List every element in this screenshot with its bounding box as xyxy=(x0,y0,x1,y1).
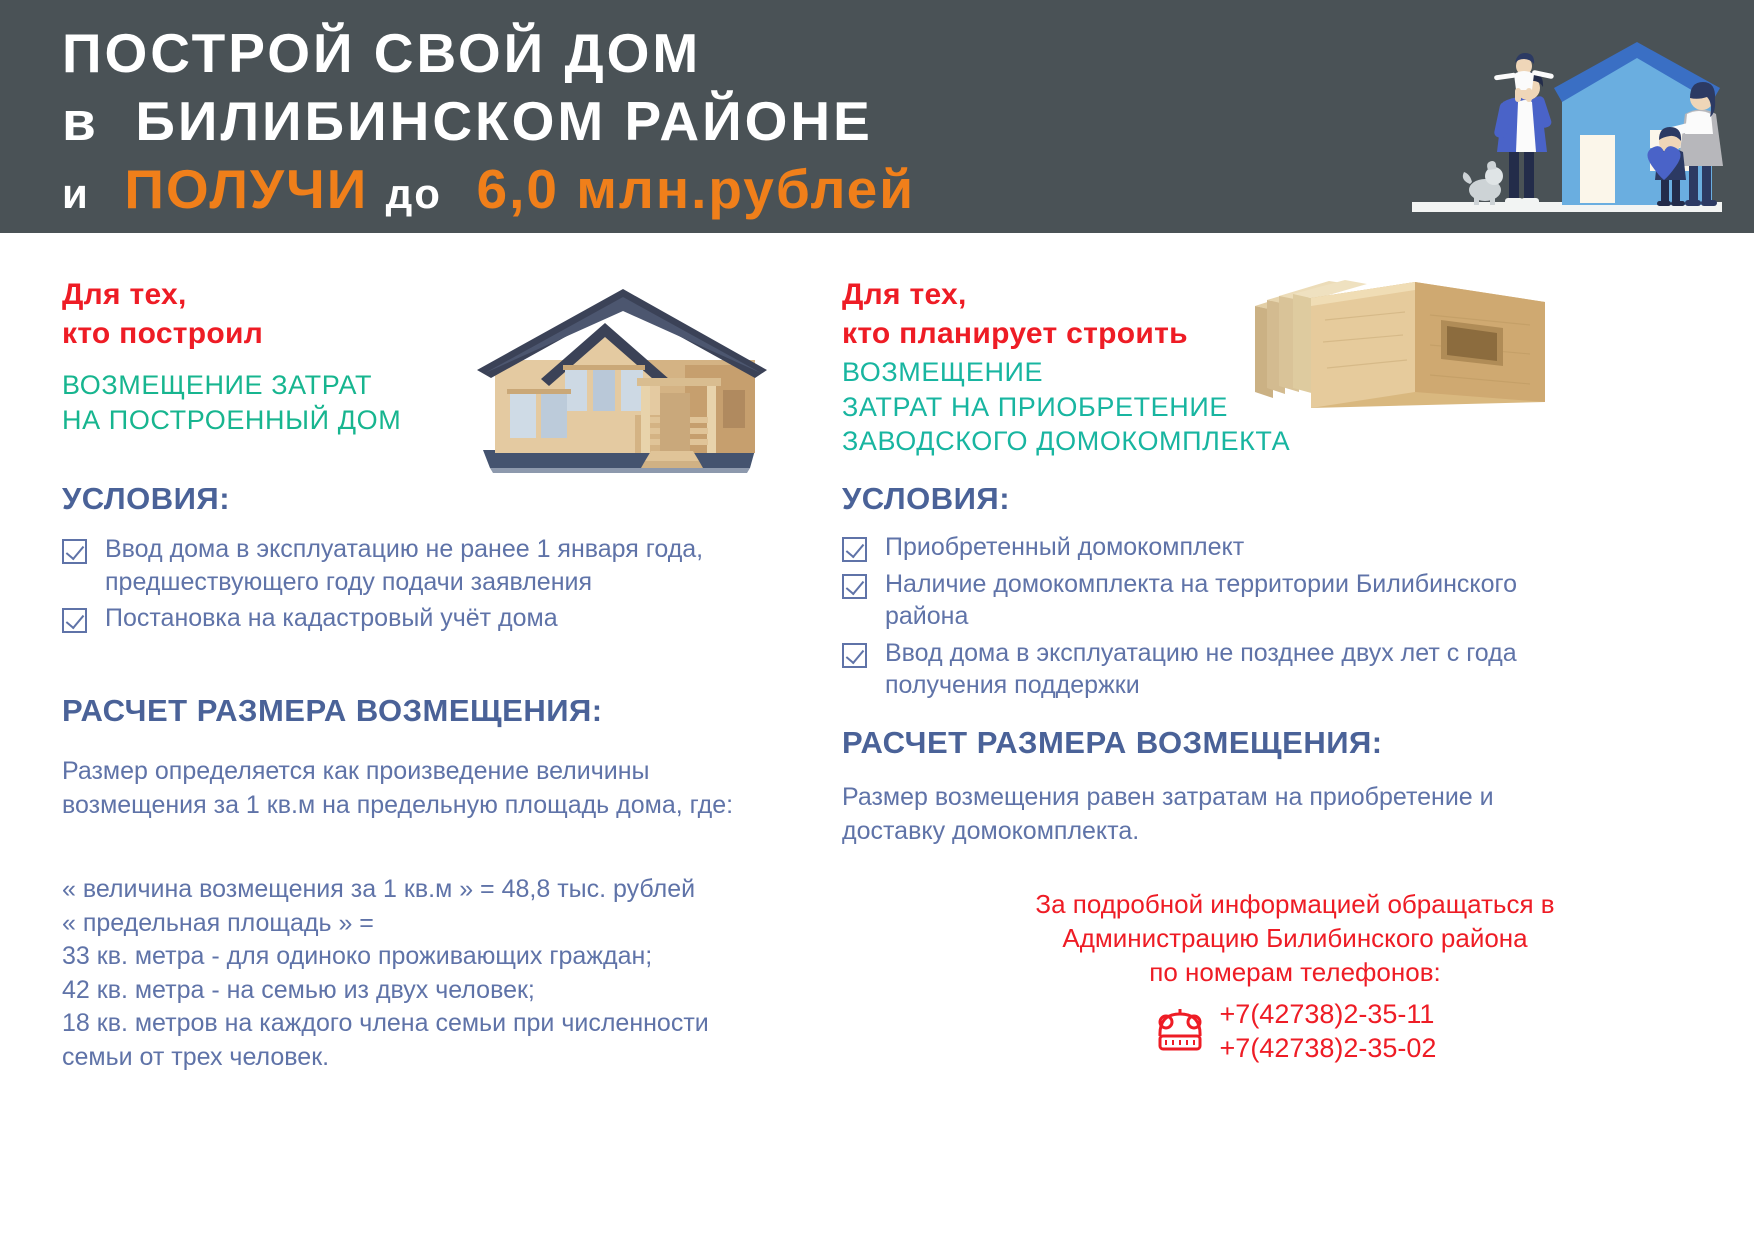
list-item: Ввод дома в эксплуатацию не позднее двух… xyxy=(842,637,1522,702)
list-item: Ввод дома в эксплуатацию не ранее 1 янва… xyxy=(62,533,752,598)
right-calc-heading: РАСЧЕТ РАЗМЕРА ВОЗМЕЩЕНИЯ: xyxy=(842,725,1383,761)
left-subtitle-line-2: НА ПОСТРОЕННЫЙ ДОМ xyxy=(62,403,401,438)
headline-do: до xyxy=(386,170,442,217)
right-kicker-line-1: Для тех, xyxy=(842,275,1188,314)
left-calc-heading: РАСЧЕТ РАЗМЕРА ВОЗМЕЩЕНИЯ: xyxy=(62,693,603,729)
left-subtitle: ВОЗМЕЩЕНИЕ ЗАТРАТ НА ПОСТРОЕННЫЙ ДОМ xyxy=(62,368,401,437)
formula-line: « предельная площадь » = xyxy=(62,907,822,941)
headline-conj: и xyxy=(62,170,90,217)
contact-block: За подробной информацией обращаться в Ад… xyxy=(890,888,1700,1065)
dog-figure xyxy=(1463,161,1503,205)
headline-poluchi: ПОЛУЧИ xyxy=(124,158,368,220)
headline-units: млн.рублей xyxy=(576,158,915,220)
wooden-house-svg xyxy=(455,265,780,485)
condition-text: Ввод дома в эксплуатацию не позднее двух… xyxy=(885,637,1522,702)
contact-line-1: За подробной информацией обращаться в xyxy=(890,888,1700,922)
right-conditions-list: Приобретенный домокомплект Наличие домок… xyxy=(842,531,1522,706)
contact-line-3: по номерам телефонов: xyxy=(890,956,1700,990)
headline-line-1: ПОСТРОЙ СВОЙ ДОМ xyxy=(62,26,1212,81)
sip-panels-svg xyxy=(1245,280,1545,420)
formula-line: 18 кв. метров на каждого члена семьи при… xyxy=(62,1007,822,1041)
left-kicker: Для тех, кто построил xyxy=(62,275,263,353)
condition-text: Постановка на кадастровый учёт дома xyxy=(105,602,558,635)
right-kicker: Для тех, кто планирует строить xyxy=(842,275,1188,353)
formula-line: 33 кв. метра - для одиноко проживающих г… xyxy=(62,940,822,974)
right-subtitle-line-2: ЗАТРАТ НА ПРИОБРЕТЕНИЕ xyxy=(842,390,1290,425)
condition-text: Наличие домокомплекта на территории Били… xyxy=(885,568,1522,633)
right-subtitle-line-1: ВОЗМЕЩЕНИЕ xyxy=(842,355,1290,390)
left-kicker-line-1: Для тех, xyxy=(62,275,263,314)
headline-line-2-main: БИЛИБИНСКОМ РАЙОНЕ xyxy=(135,90,872,152)
poster-header: ПОСТРОЙ СВОЙ ДОМ в БИЛИБИНСКОМ РАЙОНЕ и … xyxy=(0,0,1754,233)
phone-number-1[interactable]: +7(42738)2-35-11 xyxy=(1220,997,1437,1031)
header-title-block: ПОСТРОЙ СВОЙ ДОМ в БИЛИБИНСКОМ РАЙОНЕ и … xyxy=(62,26,1212,217)
family-house-illustration xyxy=(1402,30,1732,215)
right-conditions-heading: УСЛОВИЯ: xyxy=(842,481,1010,517)
headline-line-2: в БИЛИБИНСКОМ РАЙОНЕ xyxy=(62,94,1212,149)
wooden-house-photo xyxy=(455,265,780,485)
right-subtitle: ВОЗМЕЩЕНИЕ ЗАТРАТ НА ПРИОБРЕТЕНИЕ ЗАВОДС… xyxy=(842,355,1290,459)
phone-row: +7(42738)2-35-11 +7(42738)2-35-02 xyxy=(890,997,1700,1065)
left-conditions-heading: УСЛОВИЯ: xyxy=(62,481,230,517)
left-calc-paragraph: Размер определяется как произведение вел… xyxy=(62,755,762,822)
family-house-svg xyxy=(1402,30,1732,215)
right-subtitle-line-3: ЗАВОДСКОГО ДОМОКОМПЛЕКТА xyxy=(842,424,1290,459)
checkbox-checked-icon xyxy=(62,608,87,633)
formula-line: семьи от трех человек. xyxy=(62,1041,822,1075)
checkbox-checked-icon xyxy=(842,643,867,668)
headline-amount: 6,0 xyxy=(477,158,559,220)
checkbox-checked-icon xyxy=(842,574,867,599)
headline-line-2-prefix: в xyxy=(62,90,99,152)
list-item: Постановка на кадастровый учёт дома xyxy=(62,602,752,635)
left-formula-block: « величина возмещения за 1 кв.м » = 48,8… xyxy=(62,873,822,1074)
sip-panels-photo xyxy=(1245,280,1545,420)
formula-line: « величина возмещения за 1 кв.м » = 48,8… xyxy=(62,873,822,907)
telephone-icon-svg xyxy=(1154,1006,1206,1052)
contact-line-2: Администрацию Билибинского района xyxy=(890,922,1700,956)
phone-number-2[interactable]: +7(42738)2-35-02 xyxy=(1220,1031,1437,1065)
father-figure xyxy=(1493,72,1552,205)
formula-line: 42 кв. метра - на семью из двух человек; xyxy=(62,974,822,1008)
left-kicker-line-2: кто построил xyxy=(62,314,263,353)
checkbox-checked-icon xyxy=(842,537,867,562)
left-conditions-list: Ввод дома в эксплуатацию не ранее 1 янва… xyxy=(62,533,752,639)
phone-numbers: +7(42738)2-35-11 +7(42738)2-35-02 xyxy=(1220,997,1437,1065)
telephone-icon xyxy=(1154,1006,1206,1057)
headline-line-3: и ПОЛУЧИ до 6,0 млн.рублей xyxy=(62,162,1212,217)
condition-text: Ввод дома в эксплуатацию не ранее 1 янва… xyxy=(105,533,752,598)
checkbox-checked-icon xyxy=(62,539,87,564)
condition-text: Приобретенный домокомплект xyxy=(885,531,1244,564)
list-item: Наличие домокомплекта на территории Били… xyxy=(842,568,1522,633)
right-calc-paragraph: Размер возмещения равен затратам на прио… xyxy=(842,781,1532,848)
list-item: Приобретенный домокомплект xyxy=(842,531,1522,564)
left-subtitle-line-1: ВОЗМЕЩЕНИЕ ЗАТРАТ xyxy=(62,368,401,403)
right-kicker-line-2: кто планирует строить xyxy=(842,314,1188,353)
